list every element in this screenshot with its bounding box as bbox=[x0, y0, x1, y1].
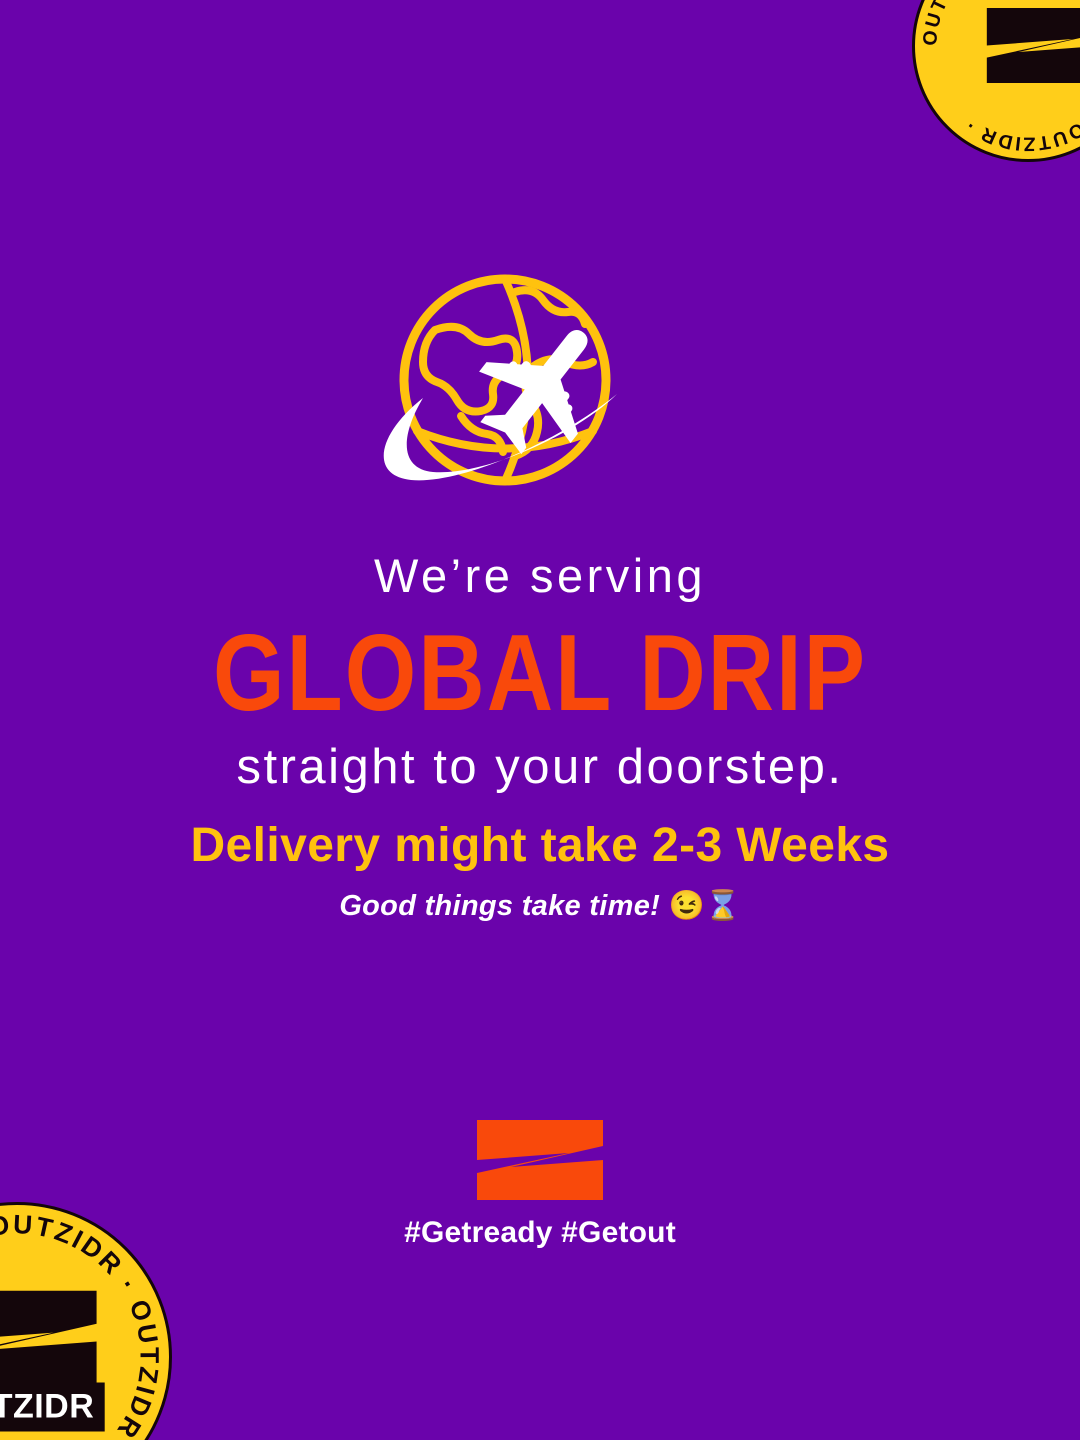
page-title: GLOBAL DRIP bbox=[0, 619, 1080, 730]
delivery-block: Delivery might take 2-3 Weeks Good thing… bbox=[0, 820, 1080, 923]
delivery-reassurance: Good things take time! 😉⌛ bbox=[0, 891, 1080, 923]
delivery-estimate: Delivery might take 2-3 Weeks bbox=[0, 820, 1080, 873]
outzidr-seal-top-right: OUTZIDR · OUTZIDR · OUTZIDR · OUTZIDR · … bbox=[912, 0, 1080, 162]
z-logo bbox=[477, 1120, 603, 1200]
wink-hourglass-emoji: 😉⌛ bbox=[668, 890, 740, 922]
eyebrow-text: We’re serving bbox=[0, 548, 1080, 603]
badge-inner-word-bl: OUTZIDR bbox=[0, 1383, 104, 1432]
badge-z-logo-top-right bbox=[987, 7, 1080, 83]
footer-tagline: #Getready #Getout bbox=[404, 1218, 676, 1248]
globe-airplane-icon bbox=[365, 270, 715, 505]
subline-text: straight to your doorstep. bbox=[0, 739, 1080, 797]
badge-z-logo-bottom-left bbox=[0, 1291, 97, 1393]
headline-block: We’re serving GLOBAL DRIP straight to yo… bbox=[0, 548, 1080, 797]
hero-icon-wrapper bbox=[0, 270, 1080, 505]
badge-core-bottom-left: OUTZIDR bbox=[0, 1291, 104, 1432]
badge-core-top-right: OUTZIDR bbox=[981, 7, 1080, 112]
promo-poster: We’re serving GLOBAL DRIP straight to yo… bbox=[0, 0, 1080, 1440]
delivery-reassurance-text: Good things take time! bbox=[339, 890, 660, 922]
outzidr-seal-bottom-left: OUTZIDR · OUTZIDR · OUTZIDR · OUTZIDR · … bbox=[0, 1202, 172, 1440]
